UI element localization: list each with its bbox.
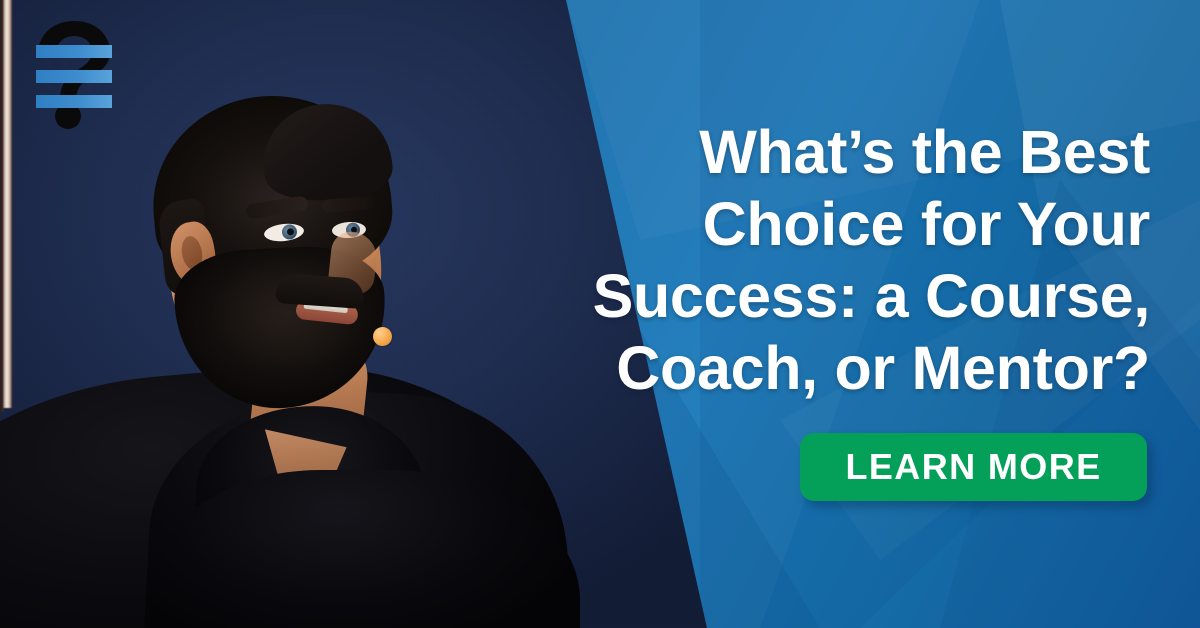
lapel-microphone [373,327,392,346]
brand-logo[interactable] [26,17,122,129]
learn-more-button[interactable]: LEARN MORE [800,433,1147,501]
page-title: What’s the Best Choice for Your Success:… [590,116,1150,404]
logo-bars-icon [36,45,112,108]
promo-banner: What’s the Best Choice for Your Success:… [0,0,1200,628]
